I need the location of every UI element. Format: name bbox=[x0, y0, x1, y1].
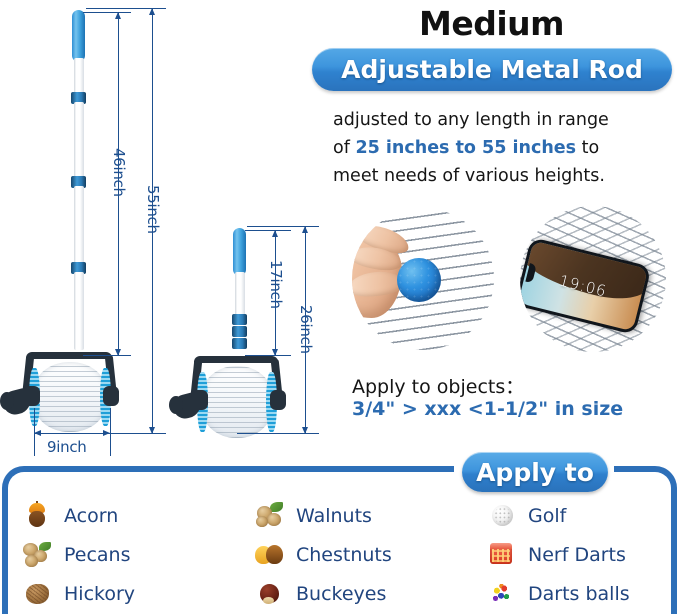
infographic-root: 46inch 55inch 9inch bbox=[0, 0, 679, 614]
item-label: Chestnuts bbox=[296, 544, 392, 566]
chestnuts-icon bbox=[254, 541, 284, 569]
inset-phone: 19:06 bbox=[520, 206, 666, 352]
dim-9-tick-right bbox=[110, 408, 111, 456]
basket-hub-right bbox=[103, 386, 119, 406]
item-label: Pecans bbox=[64, 544, 131, 566]
rod-shaft-mid bbox=[74, 102, 84, 184]
description-line-3: meet needs of various heights. bbox=[333, 162, 605, 190]
dim-46-ext-bottom bbox=[83, 355, 131, 356]
dim-26-ext-top bbox=[247, 226, 319, 227]
head-elbow-cap bbox=[0, 392, 14, 410]
rod-shaft-base bbox=[74, 272, 84, 350]
list-item: Hickory bbox=[22, 578, 254, 610]
dim-17-ext-top bbox=[245, 230, 291, 231]
list-item: Nerf Darts bbox=[486, 539, 662, 571]
dim-9-arrow-left bbox=[34, 430, 41, 436]
dim-55-arrow-top bbox=[149, 8, 155, 15]
item-label: Hickory bbox=[64, 583, 135, 605]
basket-hub-right-2 bbox=[270, 390, 286, 410]
rod-collar-c2 bbox=[232, 326, 247, 337]
apply-to-grid: Acorn Walnuts Golf Pecans bbox=[22, 500, 662, 610]
collapsed-tool-illustration: 17inch 26inch bbox=[175, 200, 340, 462]
adjustable-rod-badge: Adjustable Metal Rod bbox=[312, 48, 672, 91]
gatherer-head-collapsed bbox=[175, 350, 305, 450]
nerf-darts-icon bbox=[486, 541, 516, 569]
dim-26-label: 26inch bbox=[297, 305, 315, 354]
dim-9-line bbox=[34, 433, 110, 434]
dim-46-ext-top bbox=[83, 12, 131, 13]
dim-26-arrow-top bbox=[302, 226, 308, 233]
rod-shaft-collapsed bbox=[235, 272, 245, 316]
dim-17-ext-bottom bbox=[245, 355, 291, 356]
desc-prefix: of bbox=[333, 138, 350, 158]
rod-grip-collapsed bbox=[233, 228, 246, 276]
dim-17-label: 17inch bbox=[267, 260, 285, 309]
rod-grip bbox=[72, 10, 85, 62]
item-label: Golf bbox=[528, 505, 566, 527]
item-label: Acorn bbox=[64, 505, 118, 527]
golf-ball-icon bbox=[486, 502, 516, 530]
desc-suffix: to bbox=[582, 138, 600, 158]
gatherer-head bbox=[0, 344, 140, 446]
item-label: Darts balls bbox=[528, 583, 630, 605]
list-item: Darts balls bbox=[486, 578, 662, 610]
head-yoke-bar-2 bbox=[194, 356, 278, 363]
rod-collar-c1 bbox=[232, 314, 247, 325]
item-label: Walnuts bbox=[296, 505, 372, 527]
blue-golf-ball bbox=[397, 258, 441, 302]
wire-basket-roller bbox=[33, 362, 107, 432]
rod-shaft-low bbox=[74, 186, 84, 270]
page-title: Medium bbox=[419, 4, 564, 43]
list-item: Acorn bbox=[22, 500, 254, 532]
walnuts-icon bbox=[254, 502, 284, 530]
dim-55-ext-top bbox=[86, 8, 166, 9]
objects-size-range: 3/4" > xxx <1-1/2" in size bbox=[352, 398, 623, 420]
objects-heading: Apply to objects： bbox=[352, 372, 524, 399]
description-line-1: adjusted to any length in range bbox=[333, 106, 609, 134]
phone-notch bbox=[525, 263, 536, 283]
length-range-accent: 25 inches to 55 inches bbox=[355, 138, 576, 158]
item-label: Nerf Darts bbox=[528, 544, 626, 566]
list-item: Golf bbox=[486, 500, 662, 532]
wire-basket-roller-2 bbox=[201, 366, 273, 438]
dim-17-arrow-top bbox=[272, 230, 278, 237]
extended-tool-illustration: 46inch 55inch 9inch bbox=[0, 0, 175, 460]
dim-55-label: 55inch bbox=[144, 185, 162, 234]
hickory-icon bbox=[22, 580, 52, 608]
list-item: Chestnuts bbox=[254, 539, 486, 571]
dim-9-label: 9inch bbox=[47, 438, 86, 456]
darts-balls-icon bbox=[486, 580, 516, 608]
dim-55-ext-bottom bbox=[110, 433, 166, 434]
buckeyes-icon bbox=[254, 580, 284, 608]
dim-46-arrow-top bbox=[115, 12, 121, 19]
acorn-icon bbox=[22, 502, 52, 530]
apply-to-badge: Apply to bbox=[462, 452, 608, 492]
dim-26-ext-bottom bbox=[237, 433, 319, 434]
description-line-2: of 25 inches to 55 inches to bbox=[333, 134, 599, 162]
pecans-icon bbox=[22, 541, 52, 569]
dim-9-arrow-right bbox=[103, 430, 110, 436]
list-item: Buckeyes bbox=[254, 578, 486, 610]
list-item: Pecans bbox=[22, 539, 254, 571]
inset-hand-ball bbox=[352, 208, 494, 350]
list-item: Walnuts bbox=[254, 500, 486, 532]
rod-collar-c3 bbox=[232, 338, 247, 349]
dim-46-label: 46inch bbox=[110, 148, 128, 197]
item-label: Buckeyes bbox=[296, 583, 386, 605]
head-elbow-cap-2 bbox=[169, 396, 183, 414]
